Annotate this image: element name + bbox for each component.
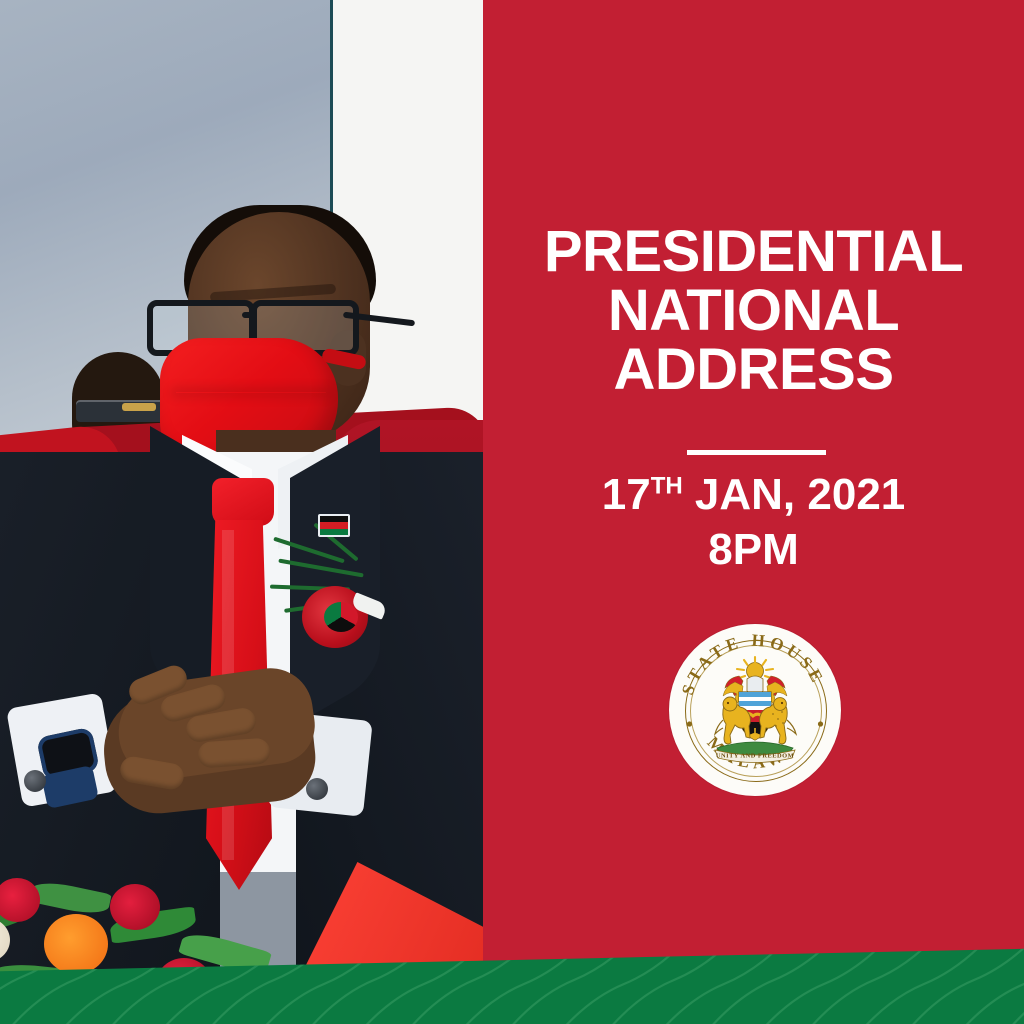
- leopard-tail: [787, 720, 796, 734]
- shield-wave-blue: [737, 701, 773, 706]
- seal-dot-left: [687, 721, 692, 726]
- eyeglass-bridge: [242, 312, 256, 318]
- malawi-coat-of-arms: UNITY AND FREEDOM: [715, 657, 796, 763]
- face-mask-fold: [176, 392, 326, 393]
- cufflink-right: [306, 778, 328, 800]
- headline-block: PRESIDENTIAL NATIONAL ADDRESS: [483, 222, 1024, 399]
- seal-dot-right: [818, 721, 823, 726]
- background-person-sunglasses-icon: [76, 400, 166, 422]
- event-date-day: 17: [602, 470, 651, 519]
- shield-wave-white: [737, 697, 773, 701]
- leopard-head: [774, 698, 787, 711]
- event-time: 8PM: [483, 525, 1024, 575]
- headline-line-1: PRESIDENTIAL: [483, 222, 1024, 281]
- event-date: 17TH JAN, 2021: [483, 470, 1024, 520]
- cufflink-left: [24, 770, 46, 792]
- lion-tail: [715, 720, 723, 734]
- shield-wave-blue: [737, 692, 773, 697]
- poster-canvas: PRESIDENTIAL NATIONAL ADDRESS 17TH JAN, …: [0, 0, 1024, 1024]
- headline-line-2: NATIONAL: [483, 281, 1024, 340]
- state-house-malawi-seal: STATE HOUSE MALAWI: [669, 624, 841, 796]
- event-date-rest: JAN, 2021: [683, 470, 906, 519]
- lion-head: [723, 697, 737, 711]
- president-photo: [0, 0, 483, 1024]
- event-date-ordinal: TH: [651, 472, 683, 499]
- seal-artwork: STATE HOUSE MALAWI: [669, 624, 841, 796]
- seal-motto: UNITY AND FREEDOM: [716, 753, 794, 760]
- necktie-knot: [212, 478, 274, 526]
- headline-line-3: ADDRESS: [483, 340, 1024, 399]
- malawi-flag-lapel-pin: [318, 514, 350, 537]
- headline-divider: [687, 450, 826, 455]
- finger: [197, 738, 271, 769]
